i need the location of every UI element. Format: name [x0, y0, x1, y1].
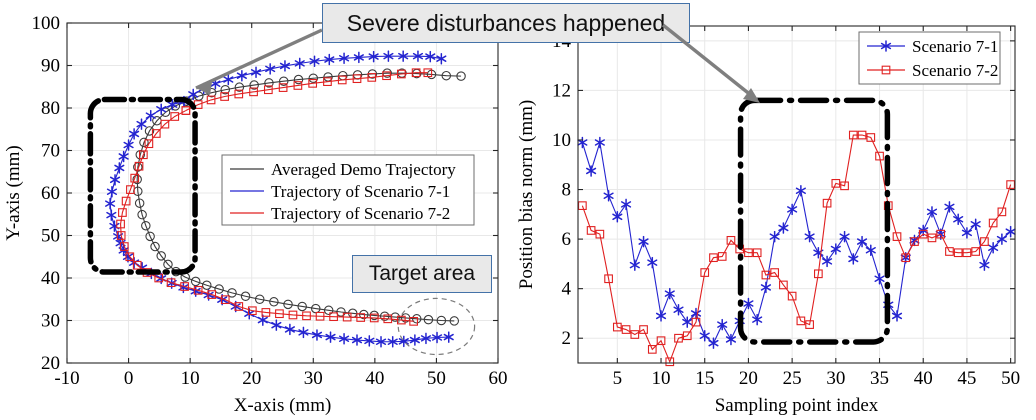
y-tick-label: 90	[41, 56, 60, 77]
x-tick-label: 10	[181, 368, 200, 389]
y-tick-label: 20	[41, 353, 60, 374]
data-point	[805, 232, 814, 242]
data-point	[727, 334, 736, 344]
data-point	[191, 286, 200, 296]
legend-label: Scenario 7-2	[912, 61, 998, 80]
y-axis-title: Position bias norm (mm)	[518, 100, 537, 289]
data-point	[587, 166, 596, 176]
data-point	[596, 137, 605, 147]
legend-label: Averaged Demo Trajectory	[271, 160, 456, 179]
data-point	[286, 324, 295, 334]
legend-label: Scenario 7-1	[912, 37, 998, 56]
data-point	[252, 67, 261, 77]
y-tick-label: 10	[552, 130, 571, 151]
data-point	[1006, 227, 1015, 237]
y-tick-label: 100	[32, 13, 61, 34]
x-tick-label: 10	[652, 368, 671, 389]
data-point	[657, 311, 666, 321]
y-tick-label: 8	[562, 180, 572, 201]
x-tick-label: 45	[957, 368, 976, 389]
left-chart-svg: -1001020304050602030405060708090100X-axi…	[0, 0, 518, 420]
data-point	[648, 258, 657, 268]
legend[interactable]: Scenario 7-1Scenario 7-2	[859, 32, 1000, 84]
y-tick-label: 30	[41, 311, 60, 332]
data-point	[928, 207, 937, 217]
data-point	[272, 320, 281, 330]
data-point	[980, 260, 989, 270]
x-tick-label: 20	[242, 368, 261, 389]
data-point	[578, 137, 587, 147]
callout-severe-disturbances: Severe disturbances happened	[322, 3, 690, 43]
data-point	[107, 210, 116, 220]
data-point	[106, 199, 115, 209]
data-point	[211, 79, 220, 89]
figure-container: -1001020304050602030405060708090100X-axi…	[0, 0, 1036, 420]
y-tick-label: 40	[41, 268, 60, 289]
right-chart-panel: 51015202530354045502468101214Sampling po…	[518, 0, 1036, 420]
y-tick-label: 6	[562, 229, 572, 250]
x-tick-label: 25	[783, 368, 802, 389]
y-tick-label: 50	[41, 226, 60, 247]
data-point	[111, 175, 120, 185]
data-point	[299, 327, 308, 337]
data-point	[110, 221, 119, 231]
x-tick-label: 20	[739, 368, 758, 389]
data-point	[119, 151, 128, 161]
data-point	[238, 71, 247, 81]
data-point	[437, 54, 446, 64]
data-point	[849, 254, 858, 264]
data-point	[700, 331, 709, 341]
legend-label: Trajectory of Scenario 7-1	[271, 182, 450, 201]
left-chart-panel: -1001020304050602030405060708090100X-axi…	[0, 0, 518, 420]
data-point	[604, 191, 613, 201]
data-point	[115, 163, 124, 173]
x-tick-label: 50	[427, 368, 446, 389]
x-tick-label: 0	[124, 368, 134, 389]
data-point	[639, 237, 648, 247]
legend-label: Trajectory of Scenario 7-2	[271, 204, 450, 223]
series-markers-1	[578, 137, 1015, 348]
x-axis-title: Sampling point index	[715, 395, 879, 416]
x-tick-label: 35	[870, 368, 889, 389]
data-point	[788, 204, 797, 214]
plot-series	[578, 131, 1015, 365]
data-point	[744, 299, 753, 309]
x-tick-label: 40	[365, 368, 384, 389]
y-tick-label: 12	[552, 80, 571, 101]
data-point	[875, 274, 884, 284]
right-chart-svg: 51015202530354045502468101214Sampling po…	[518, 0, 1036, 420]
data-point	[762, 282, 771, 292]
data-point	[753, 315, 762, 325]
legend[interactable]: Averaged Demo TrajectoryTrajectory of Sc…	[222, 155, 474, 225]
data-point	[665, 289, 674, 299]
x-tick-label: 30	[826, 368, 845, 389]
x-tick-label: 40	[914, 368, 933, 389]
data-point	[108, 187, 117, 197]
data-point	[124, 140, 133, 150]
y-axis-title: Y-axis (mm)	[3, 145, 24, 241]
x-tick-label: 50	[1001, 368, 1020, 389]
x-tick-label: 5	[613, 368, 623, 389]
data-point	[224, 75, 233, 85]
y-tick-label: 80	[41, 98, 60, 119]
x-axis-title: X-axis (mm)	[234, 395, 332, 416]
y-tick-label: 70	[41, 141, 60, 162]
data-point	[630, 260, 639, 270]
x-tick-label: 15	[695, 368, 714, 389]
y-tick-label: 4	[562, 279, 572, 300]
x-tick-label: 60	[489, 368, 508, 389]
data-point	[797, 186, 806, 196]
y-tick-label: 60	[41, 183, 60, 204]
x-tick-label: 30	[304, 368, 323, 389]
callout-target-area: Target area	[352, 255, 492, 293]
data-point	[718, 320, 727, 330]
data-point	[709, 338, 718, 348]
y-tick-label: 2	[562, 328, 572, 349]
